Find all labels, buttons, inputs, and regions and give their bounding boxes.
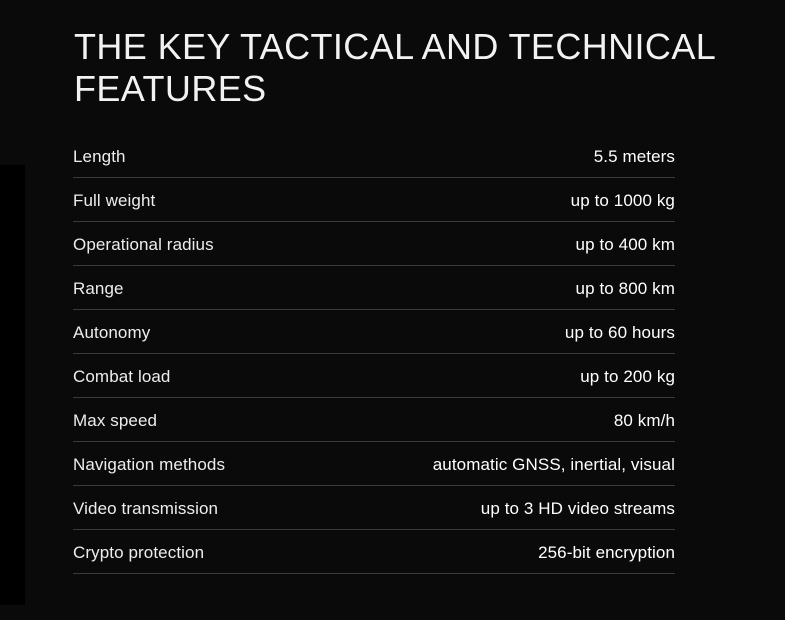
table-row: Crypto protection256-bit encryption [73, 530, 675, 574]
table-row: Max speed80 km/h [73, 398, 675, 442]
table-row: Autonomyup to 60 hours [73, 310, 675, 354]
spec-value: up to 1000 kg [571, 178, 675, 211]
spec-label: Max speed [73, 398, 157, 431]
table-row: Video transmissionup to 3 HD video strea… [73, 486, 675, 530]
table-row: Rangeup to 800 km [73, 266, 675, 310]
spec-label: Full weight [73, 178, 155, 211]
spec-label: Combat load [73, 354, 171, 387]
specifications-table: Length5.5 metersFull weightup to 1000 kg… [73, 134, 675, 574]
spec-value: up to 400 km [576, 222, 675, 255]
table-row: Combat loadup to 200 kg [73, 354, 675, 398]
table-row: Full weightup to 1000 kg [73, 178, 675, 222]
spec-value: up to 60 hours [565, 310, 675, 343]
spec-value: up to 800 km [576, 266, 675, 299]
spec-label: Navigation methods [73, 442, 225, 475]
spec-label: Length [73, 134, 126, 167]
spec-value: 80 km/h [614, 398, 675, 431]
spec-value: up to 3 HD video streams [481, 486, 675, 519]
table-row: Length5.5 meters [73, 134, 675, 178]
spec-value: 5.5 meters [594, 134, 675, 167]
spec-value: up to 200 kg [580, 354, 675, 387]
spec-label: Range [73, 266, 124, 299]
spec-label: Operational radius [73, 222, 214, 255]
spec-label: Crypto protection [73, 530, 204, 563]
spec-label: Video transmission [73, 486, 218, 519]
left-edge-strip [0, 165, 25, 605]
spec-label: Autonomy [73, 310, 150, 343]
spec-value: 256-bit encryption [538, 530, 675, 563]
table-row: Operational radiusup to 400 km [73, 222, 675, 266]
specifications-slide: The key tactical and technical features … [0, 0, 785, 620]
spec-value: automatic GNSS, inertial, visual [433, 442, 675, 475]
table-row: Navigation methodsautomatic GNSS, inerti… [73, 442, 675, 486]
page-title: The key tactical and technical features [74, 26, 764, 110]
